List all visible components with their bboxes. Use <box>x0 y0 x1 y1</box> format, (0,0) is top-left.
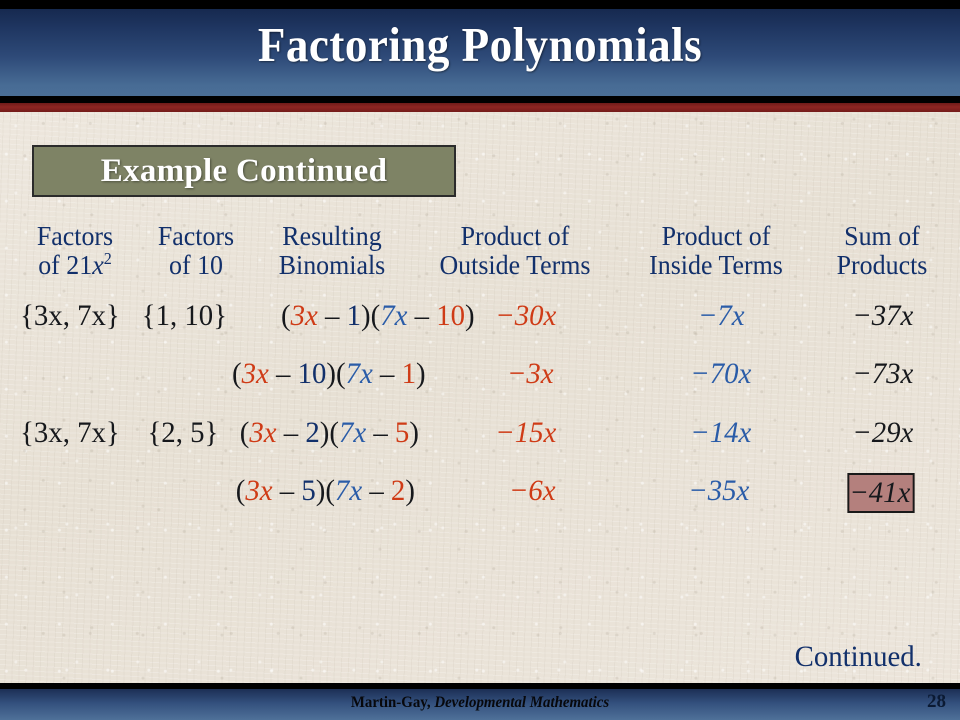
header-line-2: Binomials <box>255 251 409 280</box>
column-header-resulting-binomials: Resulting Binomials <box>255 222 409 280</box>
table-row: {3x, 7x} {2, 5} (3x – 2)(7x – 5) −15x −1… <box>0 413 960 471</box>
slide-footer: Martin-Gay, Developmental Mathematics 28 <box>0 689 960 720</box>
cell-resulting-binomials: (3x – 1)(7x – 10) <box>281 296 475 336</box>
correct-answer-highlight: −41x <box>847 473 914 513</box>
paren-open-1: ( <box>236 474 246 507</box>
paren-open-2: ( <box>325 474 335 507</box>
header-line-1: Product of <box>662 221 771 251</box>
cell-factors-of-10: {2, 5} <box>147 413 218 453</box>
slide: Factoring Polynomials Example Continued … <box>0 0 960 720</box>
paren-open-2: ( <box>329 416 339 449</box>
binomial-term-3: 7x <box>380 299 407 332</box>
binomial-operator-1: – <box>273 474 302 507</box>
binomial-term-2: 10 <box>298 357 327 390</box>
table-row: (3x – 5)(7x – 2) −6x −35x −41x <box>0 471 960 529</box>
binomial-term-4: 1 <box>402 357 416 390</box>
binomial-operator-2: – <box>362 474 391 507</box>
cell-sum-of-products: −41x <box>847 473 914 513</box>
header-line-2: of 21x2 <box>3 251 147 280</box>
paren-close-2: ) <box>405 474 415 507</box>
cell-product-outside-terms: −15x <box>495 413 556 453</box>
table-header-row: Factors of 21x2 Factors of 10 Resulting … <box>0 222 960 296</box>
column-header-product-of-inside-terms: Product of Inside Terms <box>624 222 808 280</box>
cell-product-inside-terms: −35x <box>688 471 749 511</box>
header-line-1: Sum of <box>844 221 920 251</box>
header-line-1: Factors <box>37 221 113 251</box>
header-line-1: Product of <box>461 221 570 251</box>
binomial-term-3: 7x <box>335 474 362 507</box>
column-header-product-of-outside-terms: Product of Outside Terms <box>414 222 616 280</box>
footer-book-title: Developmental Mathematics <box>434 694 609 711</box>
paren-open-1: ( <box>232 357 242 390</box>
exponent-2: 2 <box>104 249 112 268</box>
cell-sum-of-products: −73x <box>852 354 913 394</box>
binomial-term-2: 1 <box>347 299 361 332</box>
header-line-1: Resulting <box>282 221 381 251</box>
binomial-term-3: 7x <box>346 357 373 390</box>
banner-top-black-strip <box>0 0 960 9</box>
banner-red-rule <box>0 103 960 112</box>
page-title: Factoring Polynomials <box>38 20 921 69</box>
paren-open-1: ( <box>240 416 250 449</box>
binomial-term-1: 3x <box>245 474 272 507</box>
column-header-sum-of-products: Sum of Products <box>815 222 949 280</box>
answer-value: −41x <box>849 476 910 509</box>
binomial-operator-2: – <box>366 416 395 449</box>
example-continued-label: Example Continued <box>101 153 388 190</box>
paren-close-1: ) <box>316 474 326 507</box>
cell-product-outside-terms: −3x <box>507 354 554 394</box>
cell-resulting-binomials: (3x – 2)(7x – 5) <box>240 413 419 453</box>
binomial-term-3: 7x <box>339 416 366 449</box>
continued-note: Continued. <box>794 640 921 674</box>
cell-product-inside-terms: −14x <box>690 413 751 453</box>
footer-credit: Martin-Gay, Developmental Mathematics <box>34 694 927 712</box>
table-row: (3x – 10)(7x – 1) −3x −70x −73x <box>0 354 960 413</box>
cell-factors-of-10: {1, 10} <box>142 296 227 336</box>
paren-open-2: ( <box>371 299 381 332</box>
page-number: 28 <box>927 691 946 713</box>
paren-open-1: ( <box>281 299 291 332</box>
binomial-term-1: 3x <box>291 299 318 332</box>
cell-product-inside-terms: −70x <box>690 354 751 394</box>
cell-resulting-binomials: (3x – 5)(7x – 2) <box>236 471 415 511</box>
variable-x: x <box>92 250 104 280</box>
footer-author: Martin-Gay, <box>351 694 431 711</box>
column-header-factors-of-21x2: Factors of 21x2 <box>3 222 147 280</box>
paren-close-1: ) <box>326 357 336 390</box>
binomial-term-1: 3x <box>242 357 269 390</box>
paren-open-2: ( <box>336 357 346 390</box>
header-line-2: Products <box>815 251 949 280</box>
example-continued-callout: Example Continued <box>32 145 456 197</box>
banner-black-rule <box>0 96 960 103</box>
binomial-operator-1: – <box>277 416 306 449</box>
factoring-trials-table: Factors of 21x2 Factors of 10 Resulting … <box>0 222 960 529</box>
binomial-term-4: 5 <box>395 416 409 449</box>
cell-sum-of-products: −29x <box>852 413 913 453</box>
paren-close-1: ) <box>320 416 330 449</box>
title-banner: Factoring Polynomials <box>0 0 960 112</box>
cell-factors-of-21x2: {3x, 7x} <box>20 296 120 336</box>
cell-product-outside-terms: −6x <box>509 471 556 511</box>
header-line-2: Inside Terms <box>624 251 808 280</box>
header-line-1: Factors <box>158 221 234 251</box>
binomial-term-2: 5 <box>301 474 315 507</box>
header-line-2: of 10 <box>131 251 262 280</box>
column-header-factors-of-10: Factors of 10 <box>131 222 262 280</box>
header-line-2: Outside Terms <box>414 251 616 280</box>
binomial-operator-2: – <box>373 357 402 390</box>
paren-close-2: ) <box>465 299 475 332</box>
binomial-operator-1: – <box>269 357 298 390</box>
cell-resulting-binomials: (3x – 10)(7x – 1) <box>232 354 426 394</box>
cell-product-outside-terms: −30x <box>495 296 556 336</box>
binomial-operator-2: – <box>407 299 436 332</box>
paren-close-1: ) <box>361 299 371 332</box>
binomial-term-1: 3x <box>249 416 276 449</box>
binomial-term-4: 10 <box>436 299 465 332</box>
binomial-term-2: 2 <box>305 416 319 449</box>
paren-close-2: ) <box>416 357 426 390</box>
binomial-term-4: 2 <box>391 474 405 507</box>
paren-close-2: ) <box>409 416 419 449</box>
cell-factors-of-21x2: {3x, 7x} <box>20 413 120 453</box>
table-row: {3x, 7x} {1, 10} (3x – 1)(7x – 10) −30x … <box>0 296 960 354</box>
cell-product-inside-terms: −7x <box>698 296 745 336</box>
cell-sum-of-products: −37x <box>852 296 913 336</box>
binomial-operator-1: – <box>318 299 347 332</box>
